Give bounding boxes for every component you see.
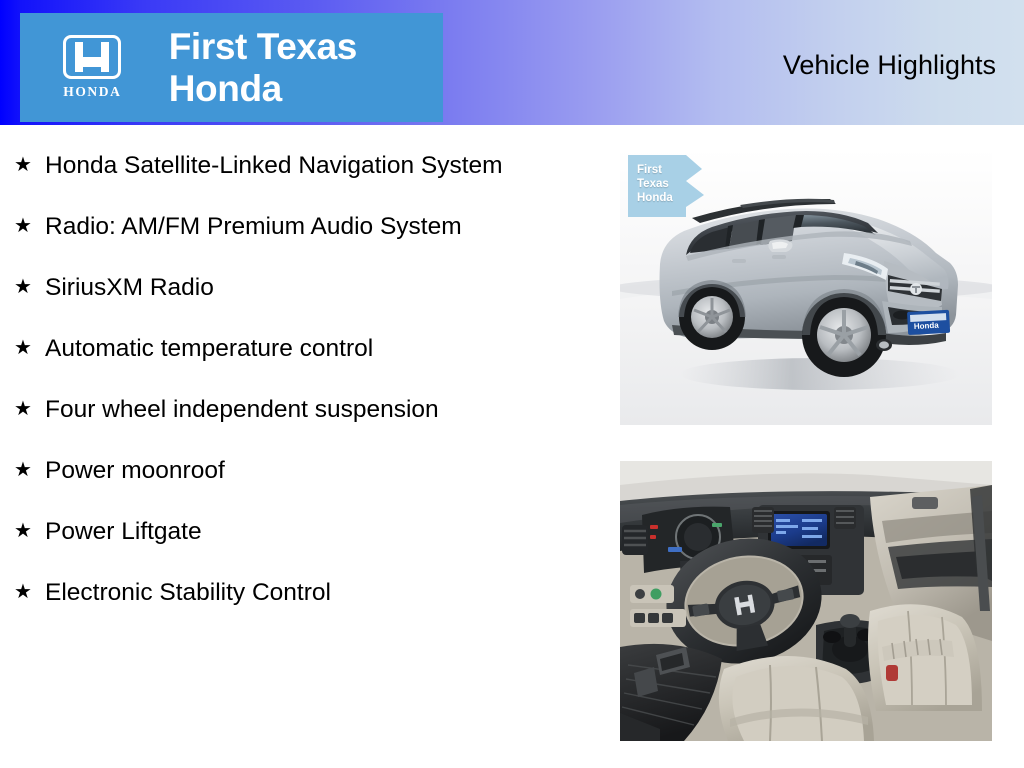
feature-label: Electronic Stability Control [45, 575, 610, 610]
honda-h-emblem-icon: HONDA [58, 33, 127, 103]
dealer-name-text: First Texas Honda [169, 26, 443, 110]
list-item: ★ Radio: AM/FM Premium Audio System [14, 209, 610, 244]
vehicle-features-list: ★ Honda Satellite-Linked Navigation Syst… [14, 148, 610, 636]
feature-label: Power moonroof [45, 453, 610, 488]
list-item: ★ Electronic Stability Control [14, 575, 610, 610]
star-bullet-icon: ★ [14, 148, 45, 183]
page-title: Vehicle Highlights [783, 50, 996, 81]
slide-header: HONDA First Texas Honda Vehicle Highligh… [0, 0, 1024, 125]
badge-line-1: First [637, 163, 673, 177]
feature-label: Power Liftgate [45, 514, 610, 549]
feature-label: Honda Satellite-Linked Navigation System [45, 148, 610, 183]
list-item: ★ Power Liftgate [14, 514, 610, 549]
badge-line-3: Honda [637, 191, 673, 205]
dealer-logo-block: HONDA First Texas Honda [20, 13, 443, 122]
slide-root: HONDA First Texas Honda Vehicle Highligh… [0, 0, 1024, 768]
honda-emblem-crossbar [81, 57, 109, 67]
feature-label: Four wheel independent suspension [45, 392, 610, 427]
star-bullet-icon: ★ [14, 270, 45, 305]
star-bullet-icon: ★ [14, 392, 45, 427]
badge-line-2: Texas [637, 177, 673, 191]
star-bullet-icon: ★ [14, 209, 45, 244]
feature-label: Automatic temperature control [45, 331, 610, 366]
star-bullet-icon: ★ [14, 514, 45, 549]
list-item: ★ Honda Satellite-Linked Navigation Syst… [14, 148, 610, 183]
list-item: ★ Four wheel independent suspension [14, 392, 610, 427]
feature-label: SiriusXM Radio [45, 270, 610, 305]
vehicle-interior-photo [620, 461, 992, 741]
star-bullet-icon: ★ [14, 453, 45, 488]
feature-label: Radio: AM/FM Premium Audio System [45, 209, 610, 244]
list-item: ★ SiriusXM Radio [14, 270, 610, 305]
svg-text:Honda: Honda [914, 321, 940, 331]
honda-brand-word: HONDA [63, 84, 121, 100]
dealer-badge-text: First Texas Honda [637, 163, 673, 205]
vehicle-exterior-photo: Honda [620, 149, 992, 425]
list-item: ★ Power moonroof [14, 453, 610, 488]
star-bullet-icon: ★ [14, 331, 45, 366]
list-item: ★ Automatic temperature control [14, 331, 610, 366]
interior-photo-graphic [620, 461, 992, 741]
dealer-badge-overlay: First Texas Honda [628, 155, 708, 217]
star-bullet-icon: ★ [14, 575, 45, 610]
honda-emblem-outline [63, 35, 121, 79]
